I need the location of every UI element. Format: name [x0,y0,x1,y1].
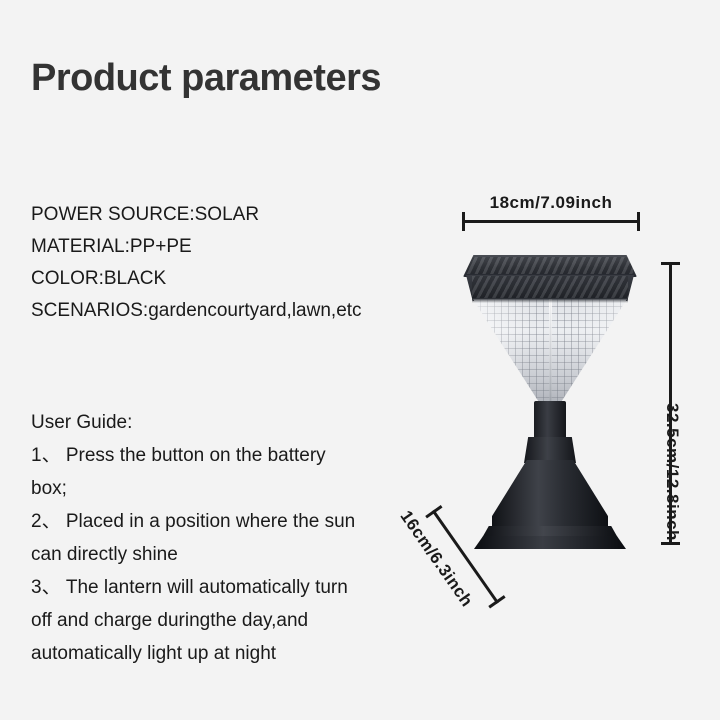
diffuser-ridge [549,299,552,405]
page-title: Product parameters [31,57,381,100]
dimension-height-label: 32.5cm/12.8inch [662,403,682,541]
dimension-width-label: 18cm/7.09inch [462,193,640,213]
product-parameters-page: Product parameters POWER SOURCE:SOLAR MA… [0,0,720,720]
user-guide-step-2-line-2: can directly shine [31,538,376,571]
spec-color: COLOR:BLACK [31,263,431,295]
diffuser-rim [472,298,628,303]
spec-scenarios: SCENARIOS:gardencourtyard,lawn,etc [31,295,431,327]
solar-panel-top [463,255,637,277]
user-guide-block: User Guide: 1、 Press the button on the b… [31,406,376,670]
user-guide-heading: User Guide: [31,406,376,439]
lamp-collar [524,437,576,463]
solar-lantern-image [460,255,640,555]
lamp-base-bell [492,460,608,532]
user-guide-step-3-line-1: 3、 The lantern will automatically turn [31,571,376,604]
product-figure: 18cm/7.09inch 32.5cm/12.8inch 16cm/6.3in… [400,185,720,585]
user-guide-step-1-line-1: 1、 Press the button on the battery [31,439,376,472]
lamp-stem [534,401,566,441]
spec-power-source: POWER SOURCE:SOLAR [31,199,431,231]
user-guide-step-3-line-3: automatically light up at night [31,637,376,670]
user-guide-step-1-line-2: box; [31,472,376,505]
dimension-width-line [462,220,640,223]
lamp-base-step-lower [474,536,626,549]
spec-material: MATERIAL:PP+PE [31,231,431,263]
user-guide-step-3-line-2: off and charge duringthe day,and [31,604,376,637]
specifications-list: POWER SOURCE:SOLAR MATERIAL:PP+PE COLOR:… [31,199,431,327]
user-guide-step-2-line-1: 2、 Placed in a position where the sun [31,505,376,538]
